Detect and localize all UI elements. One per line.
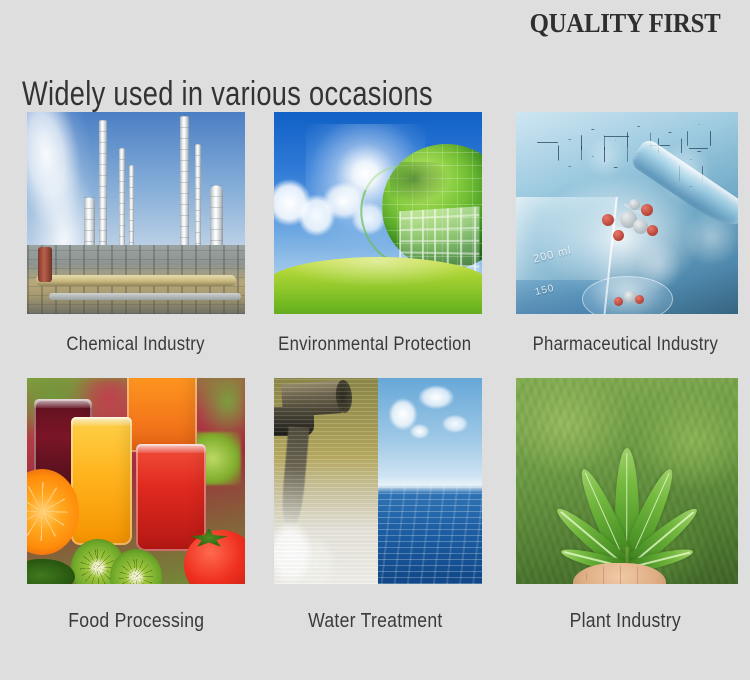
benzene-ring-icon: [581, 129, 605, 157]
gallery-item-chemical-industry[interactable]: Chemical Industry: [0, 112, 250, 356]
tomato-juice-glass: [136, 444, 206, 551]
molecule-model-dish: [609, 284, 653, 312]
orange-juice-pitcher: [127, 378, 197, 452]
benzene-ring-icon: [604, 140, 628, 168]
water-treatment-image[interactable]: [274, 378, 482, 584]
glass-rim: [71, 417, 132, 426]
discharge-pipe: [281, 380, 348, 417]
bond-line: [537, 142, 558, 143]
chemical-industry-image[interactable]: [27, 112, 245, 314]
environmental-protection-image[interactable]: [274, 112, 482, 314]
caption-chemical-industry: Chemical Industry: [67, 334, 205, 356]
pharmaceutical-industry-image[interactable]: 200 ml 150: [516, 112, 738, 314]
quality-first-badge: QUALITY FIRST: [529, 8, 720, 39]
gallery-item-plant-industry[interactable]: Plant Industry: [500, 378, 750, 633]
caption-food-processing: Food Processing: [68, 610, 204, 633]
gallery-item-environmental-protection[interactable]: Environmental Protection: [250, 112, 500, 356]
molecule-model-main: [591, 193, 671, 246]
main-pipeline: [36, 275, 237, 286]
gallery-item-water-treatment[interactable]: Water Treatment: [250, 378, 500, 633]
applications-gallery: Chemical Industry Environmental Protect: [0, 112, 750, 633]
glass-rim: [136, 444, 206, 453]
carbon-atom: [624, 291, 636, 303]
red-vessel: [38, 247, 52, 281]
oxygen-atom: [614, 297, 623, 306]
water-flow-stream: [280, 427, 310, 531]
gallery-item-pharmaceutical-industry[interactable]: 200 ml 150: [500, 112, 750, 356]
caption-environmental-protection: Environmental Protection: [278, 334, 471, 356]
oxygen-atom: [613, 230, 624, 241]
cloud-cluster-icon: [378, 382, 482, 477]
oxygen-atom: [647, 225, 658, 236]
orange-juice-glass: [71, 417, 132, 545]
ocean-waves: [378, 485, 482, 584]
bond-line: [604, 136, 629, 137]
carbon-atom: [633, 219, 648, 234]
page-title: Widely used in various occasions: [22, 75, 433, 114]
polluted-water-half: [274, 378, 378, 584]
plant-industry-image[interactable]: [516, 378, 738, 584]
caption-plant-industry: Plant Industry: [569, 610, 680, 633]
carbon-atom: [629, 199, 640, 210]
gallery-row: Chemical Industry Environmental Protect: [0, 112, 750, 356]
secondary-pipeline: [49, 293, 241, 300]
quality-first-applications-banner: QUALITY FIRST Widely used in various occ…: [0, 0, 750, 680]
grass-field: [274, 257, 482, 314]
caption-water-treatment: Water Treatment: [308, 610, 442, 633]
benzene-ring-icon: [558, 139, 582, 167]
bond-line: [689, 148, 708, 149]
water-splash-foam: [274, 514, 343, 584]
discharge-pipe: [274, 407, 314, 436]
oxygen-atom: [635, 295, 644, 304]
clean-ocean-half: [378, 378, 482, 584]
gallery-row: Food Processing: [0, 378, 750, 633]
gallery-item-food-processing[interactable]: Food Processing: [0, 378, 250, 633]
oxygen-atom: [602, 214, 614, 226]
oxygen-atom: [641, 204, 653, 216]
glass-rim: [34, 399, 93, 408]
caption-pharmaceutical-industry: Pharmaceutical Industry: [532, 334, 717, 356]
food-processing-image[interactable]: [27, 378, 245, 584]
